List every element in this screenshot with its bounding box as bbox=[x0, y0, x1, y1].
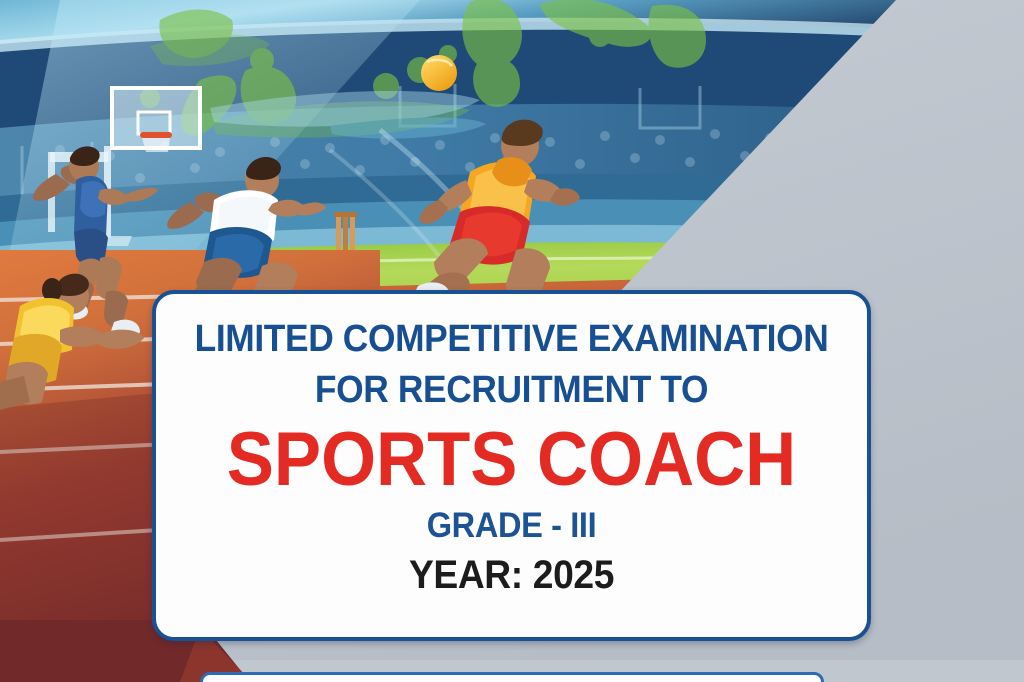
card-line-year: YEAR: 2025 bbox=[181, 555, 842, 595]
title-card: LIMITED COMPETITIVE EXAMINATION FOR RECR… bbox=[152, 290, 871, 641]
card-line-grade: GRADE - III bbox=[181, 508, 842, 543]
card-line-examination: LIMITED COMPETITIVE EXAMINATION bbox=[181, 320, 842, 358]
tennis-ball bbox=[421, 55, 457, 91]
poster-canvas: LIMITED COMPETITIVE EXAMINATION FOR RECR… bbox=[0, 0, 1024, 682]
card-line-recruitment: FOR RECRUITMENT TO bbox=[181, 371, 842, 409]
card-line-post-name: SPORTS COACH bbox=[181, 422, 842, 498]
bottom-partial-panel bbox=[200, 672, 824, 682]
